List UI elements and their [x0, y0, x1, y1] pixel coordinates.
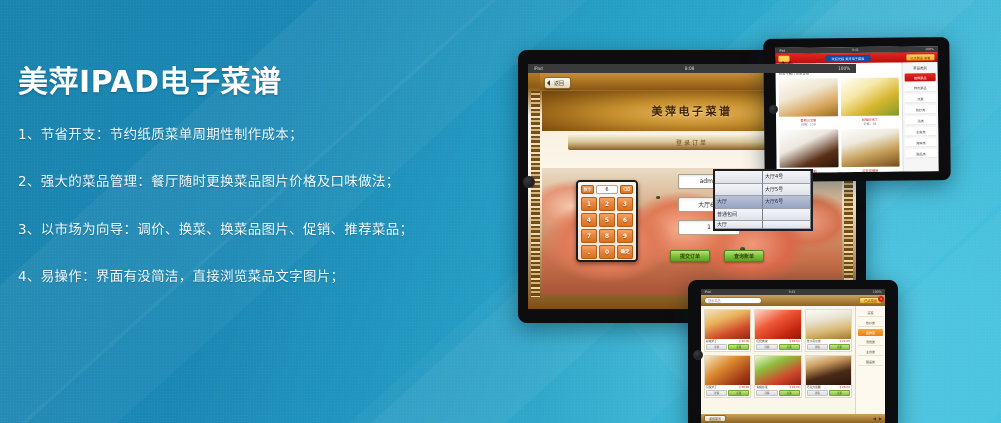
dish-price: ￥48.00	[789, 339, 800, 343]
dish-actions: 详情 点菜	[755, 343, 800, 351]
keypad-display: 数字 6 ⌫	[581, 185, 633, 194]
dish-card[interactable]: 彩椒鸡丁 ￥38.00 详情 点菜	[704, 309, 751, 352]
food-garnish	[656, 196, 660, 199]
dish-card[interactable]: 青椒炒蛋 ￥18.00 详情 点菜	[754, 355, 801, 398]
table-selection-grid[interactable]: 大厅4号 大厅5号 大厅 大厅6号 普通包间 大厅	[713, 169, 813, 231]
dish-name: 巧克力蛋糕	[807, 385, 821, 389]
dish-price: ￥38.00	[739, 339, 750, 343]
cart-label: 已点菜品	[864, 298, 877, 303]
table-grid-cell-selected[interactable]: 大厅	[715, 196, 763, 209]
dish-price: ￥36.00	[739, 385, 750, 389]
table-grid-cell[interactable]: 普通包间	[715, 209, 763, 222]
status-bar: iPad 8:08 100%	[528, 64, 856, 73]
top-bar-center: 欢迎光临 美萍电子菜谱	[792, 55, 903, 62]
feature-bullet-2: 2、强大的菜品管理：餐厅随时更换菜品图片价格及口味做法；	[18, 172, 448, 192]
dish-card[interactable]: 黑椒牛柳粒 价格：68	[779, 129, 838, 173]
home-link-button[interactable]: 返回首页	[704, 415, 726, 422]
dish-price: 价格：128	[779, 122, 838, 127]
table-grid-cell[interactable]: 大厅	[715, 221, 763, 229]
app-title: 美萍电子菜谱	[652, 103, 733, 119]
dish-grid: 香煎三文鱼 价格：128 彩椒炒鸡丁 价格：38 黑椒牛柳粒 价格：68	[779, 77, 900, 172]
dish-order-button[interactable]: 点菜	[728, 344, 749, 350]
category-item-stirfry[interactable]: 热炒类	[905, 105, 936, 114]
category-item-seafood[interactable]: 海鲜类	[905, 138, 936, 147]
category-sidebar: 凉菜 热炒类 招牌菜 汤煲类 主食类 甜品类	[855, 306, 885, 414]
category-item-soup[interactable]: 汤类	[905, 116, 936, 125]
cart-badge: 3	[878, 296, 884, 302]
category-item-cold[interactable]: 凉菜	[905, 94, 936, 103]
dish-name: 宫保鸡丁	[706, 385, 717, 389]
keypad-key-dot[interactable]: .	[581, 245, 597, 259]
category-item-dessert[interactable]: 甜品类	[858, 358, 883, 366]
status-carrier: iPad	[705, 290, 711, 293]
page-title: 美萍IPAD电子菜谱	[18, 66, 448, 99]
bottom-right-tablet-screen: iPad 9:41 100% 搜索菜品 已点菜品 3 彩	[701, 289, 885, 423]
dish-photo	[705, 356, 750, 385]
category-item-signature[interactable]: 招牌菜	[858, 329, 883, 336]
cart-button[interactable]: 已点菜品 查看	[906, 54, 934, 60]
category-item-stirfry[interactable]: 热炒类	[858, 319, 883, 327]
feature-bullet-4: 4、易操作：界面有没简洁，直接浏览菜品文字图片；	[18, 267, 448, 287]
dish-order-button[interactable]: 点菜	[779, 390, 800, 396]
category-item-recommended[interactable]: 推荐菜品	[905, 73, 936, 81]
dish-card[interactable]: 红豆雪媚娘 价格：26	[841, 128, 900, 172]
keypad-key-1[interactable]: 1	[581, 197, 597, 211]
status-carrier: iPad	[779, 49, 785, 52]
dish-card[interactable]: 彩椒炒鸡丁 价格：38	[840, 77, 899, 126]
dish-actions: 详情 点菜	[755, 389, 800, 397]
keypad-key-4[interactable]: 4	[581, 213, 597, 227]
dish-name: 彩椒鸡丁	[706, 339, 717, 343]
dish-card[interactable]: 红烧肉块 ￥48.00 详情 点菜	[754, 309, 801, 352]
marketing-copy: 美萍IPAD电子菜谱 1、节省开支：节约纸质菜单周期性制作成本； 2、强大的菜品…	[18, 66, 448, 314]
dish-card[interactable]: 金沙南瓜饼 ￥22.00 详情 点菜	[805, 309, 852, 352]
dish-photo	[779, 129, 838, 168]
dish-name: 红烧肉块	[756, 339, 767, 343]
dish-card[interactable]: 香煎三文鱼 价格：128	[779, 78, 838, 127]
dish-photo	[779, 78, 838, 117]
brand-logo: 美萍	[778, 56, 789, 62]
home-button[interactable]	[693, 350, 703, 360]
content-body: 彩椒鸡丁 ￥38.00 详情 点菜 红烧肉块	[701, 306, 885, 414]
table-grid-cell[interactable]	[763, 209, 811, 222]
dish-list-area: 彩椒鸡丁 ￥38.00 详情 点菜 红烧肉块	[701, 306, 855, 414]
category-item-cold[interactable]: 凉菜	[858, 309, 883, 317]
dish-photo	[755, 310, 800, 339]
keypad-key-8[interactable]: 8	[599, 229, 615, 243]
dish-actions: 详情 点菜	[705, 389, 750, 397]
status-time: 8:08	[685, 66, 695, 71]
dish-card[interactable]: 宫保鸡丁 ￥36.00 详情 点菜	[704, 355, 751, 398]
dish-photo	[840, 77, 899, 116]
dish-name: 青椒炒蛋	[756, 385, 767, 389]
keypad-mode-label[interactable]: 数字	[581, 185, 594, 194]
table-grid-cell[interactable]	[715, 184, 763, 197]
dish-order-button[interactable]: 点菜	[728, 390, 749, 396]
dish-photo	[755, 356, 800, 385]
category-item-staple[interactable]: 主食类	[858, 348, 883, 356]
query-bill-button[interactable]: 查询账单	[724, 250, 764, 262]
category-item-staple[interactable]: 主食类	[905, 127, 936, 136]
category-item-soup[interactable]: 汤煲类	[858, 338, 883, 346]
backspace-icon[interactable]: ⌫	[620, 185, 633, 194]
promo-banner: 美萍IPAD电子菜谱 1、节省开支：节约纸质菜单周期性制作成本； 2、强大的菜品…	[0, 0, 1001, 423]
keypad-key-0[interactable]: 0	[599, 245, 615, 259]
table-grid-cell[interactable]	[715, 171, 763, 184]
feature-bullet-3: 3、以市场为向导：调价、换菜、换菜品图片、促销、推荐菜品；	[18, 220, 448, 240]
content-body: 本图片由美萍餐饮管理软件制作 菜品热点。 点击十餐厅菜单查看 香煎三文鱼 价格：…	[776, 62, 939, 173]
dish-detail-button[interactable]: 详情	[756, 344, 777, 350]
dish-order-button[interactable]: 点菜	[779, 344, 800, 350]
keypad-key-9[interactable]: 9	[617, 229, 633, 243]
dish-price: ￥18.00	[789, 385, 800, 389]
category-item-dessert[interactable]: 甜品类	[905, 149, 936, 158]
dish-price: 价格：38	[841, 121, 900, 126]
dish-list-area: 本图片由美萍餐饮管理软件制作 菜品热点。 点击十餐厅菜单查看 香煎三文鱼 价格：…	[776, 63, 903, 173]
sidebar-title: 菜品类别	[905, 65, 936, 70]
status-time: 9:41	[852, 48, 859, 51]
keypad-grid: 1 2 3 4 5 6 7 8 9 . 0 确定	[581, 197, 633, 259]
status-battery: 100%	[925, 47, 934, 50]
keypad-key-2[interactable]: 2	[599, 197, 615, 211]
dish-actions: 详情 点菜	[806, 389, 851, 397]
dish-grid: 彩椒鸡丁 ￥38.00 详情 点菜 红烧肉块	[704, 309, 852, 398]
dish-detail-button[interactable]: 详情	[706, 344, 727, 350]
keypad-key-5[interactable]: 5	[599, 213, 615, 227]
pager: ◀ ▶	[873, 416, 882, 421]
dish-photo	[806, 356, 851, 385]
dish-order-button[interactable]: 点菜	[829, 344, 850, 350]
table-grid-cell-selected[interactable]: 大厅6号	[763, 196, 811, 209]
dish-actions: 详情 点菜	[705, 343, 750, 351]
table-grid-cell[interactable]	[763, 221, 811, 229]
status-battery: 100%	[838, 66, 850, 71]
status-battery: 100%	[872, 290, 881, 293]
category-item-specialty[interactable]: 特色菜品	[905, 83, 936, 92]
keypad-key-confirm[interactable]: 确定	[617, 245, 633, 259]
dish-order-button[interactable]: 点菜	[829, 390, 850, 396]
next-page-icon[interactable]: ▶	[879, 416, 882, 421]
search-input[interactable]: 搜索菜品	[704, 297, 762, 304]
bottom-bar: 返回首页 ◀ ▶	[701, 414, 885, 423]
dish-detail-button[interactable]: 详情	[756, 390, 777, 396]
dish-card[interactable]: 巧克力蛋糕 ￥28.00 详情 点菜	[805, 355, 852, 398]
table-grid-cell[interactable]: 大厅5号	[763, 184, 811, 197]
welcome-banner: 欢迎光临 美萍电子菜谱	[825, 55, 870, 61]
greek-key-border-left	[531, 91, 540, 297]
dish-photo	[806, 310, 851, 339]
home-button[interactable]	[769, 105, 778, 114]
keypad-value-field[interactable]: 6	[596, 185, 618, 194]
dish-detail-button[interactable]: 详情	[706, 390, 727, 396]
table-grid-cell[interactable]: 大厅4号	[763, 171, 811, 184]
dish-price: ￥22.00	[839, 339, 850, 343]
feature-bullet-1: 1、节省开支：节约纸质菜单周期性制作成本；	[18, 125, 448, 145]
dish-actions: 详情 点菜	[806, 343, 851, 351]
home-button[interactable]	[523, 176, 535, 188]
dish-photo	[705, 310, 750, 339]
bottom-right-tablet-device: iPad 9:41 100% 搜索菜品 已点菜品 3 彩	[688, 280, 898, 423]
dish-name: 金沙南瓜饼	[807, 339, 821, 343]
keypad-key-7[interactable]: 7	[581, 229, 597, 243]
status-carrier: iPad	[534, 66, 543, 71]
submit-order-button[interactable]: 提交订单	[670, 250, 710, 262]
dish-price: ￥28.00	[839, 385, 850, 389]
status-time: 9:41	[788, 290, 795, 293]
dish-detail-button[interactable]: 详情	[807, 344, 828, 350]
cart-button[interactable]: 已点菜品 3	[859, 297, 882, 304]
dish-detail-button[interactable]: 详情	[807, 390, 828, 396]
subhead-label: 登录订单	[676, 138, 708, 147]
back-button[interactable]: 返回	[544, 77, 571, 89]
keypad-key-3[interactable]: 3	[617, 197, 633, 211]
prev-page-icon[interactable]: ◀	[873, 416, 876, 421]
top-right-tablet-device: iPad 9:41 100% 美萍 欢迎光临 美萍电子菜谱 已点菜品 查看 本图…	[763, 37, 950, 182]
numeric-keypad[interactable]: 数字 6 ⌫ 1 2 3 4 5 6 7 8 9 .	[576, 180, 638, 262]
dish-photo	[841, 128, 900, 167]
keypad-key-6[interactable]: 6	[617, 213, 633, 227]
top-bar: 搜索菜品 已点菜品 3	[701, 295, 885, 306]
category-sidebar: 菜品类别 推荐菜品 特色菜品 凉菜 热炒类 汤类 主食类 海鲜类 甜品类	[902, 62, 939, 171]
